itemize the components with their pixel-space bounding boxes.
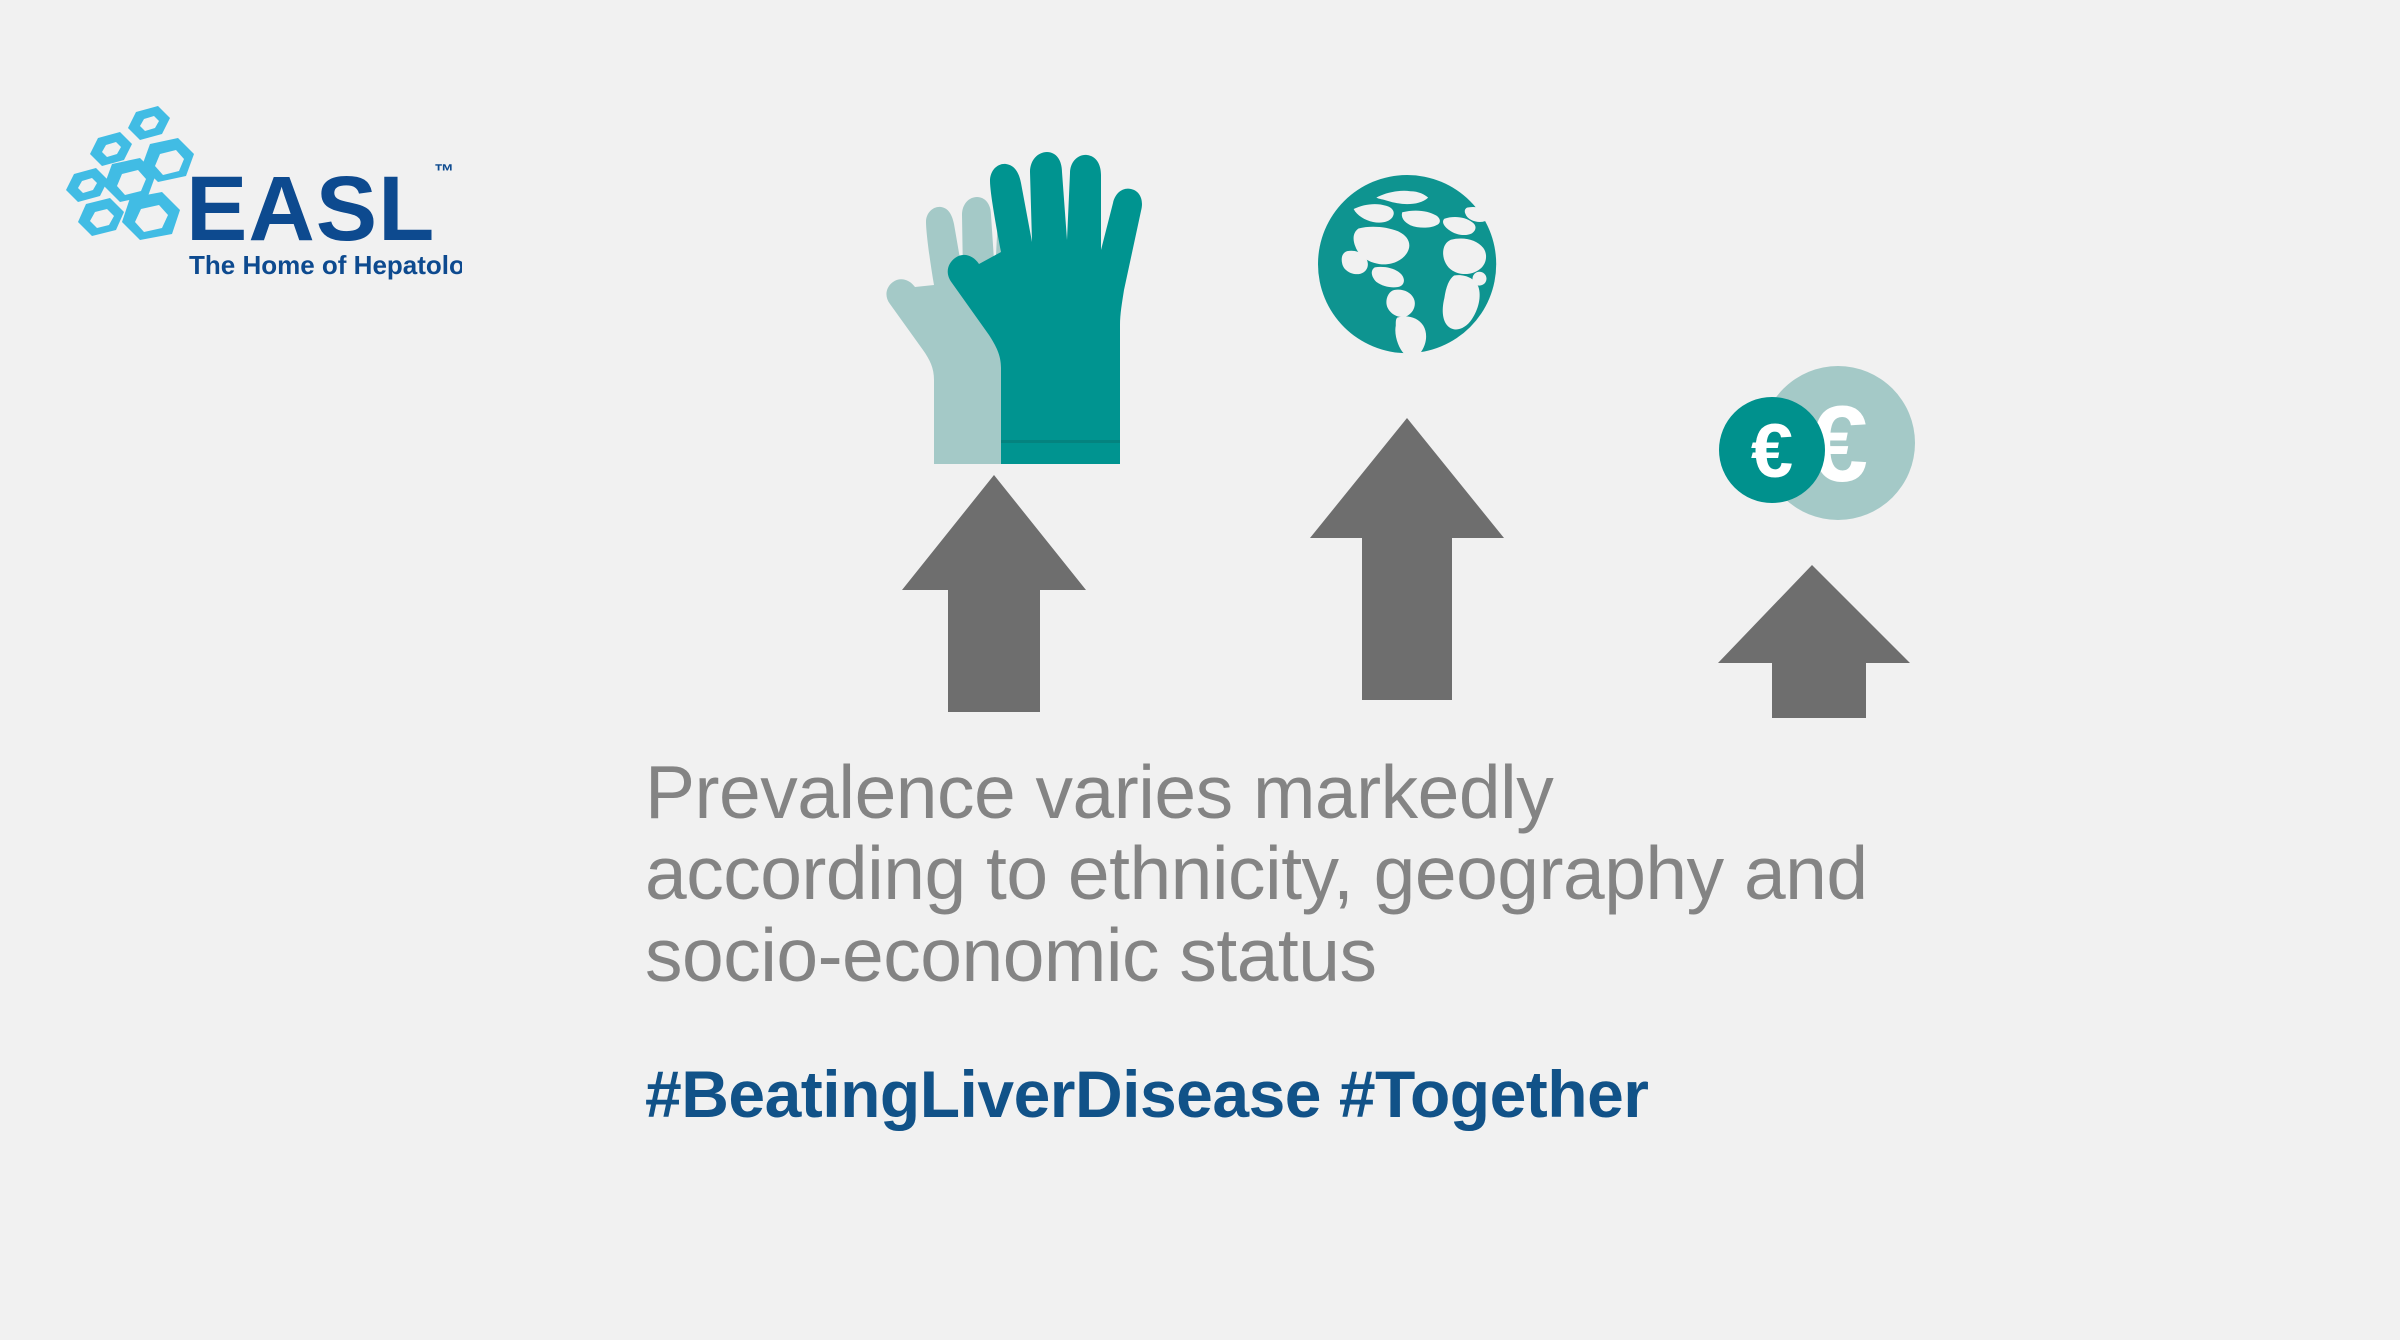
hand-front (948, 152, 1142, 464)
svg-text:EASL: EASL (186, 158, 435, 260)
coin-back (1761, 366, 1915, 520)
arrow-up-icon-3 (1718, 565, 1910, 718)
easl-logo-svg: EASL ™ The Home of Hepatology (62, 92, 462, 292)
text-block: Prevalence varies markedly according to … (645, 752, 2245, 1132)
raised-hands-icon (886, 152, 1142, 464)
globe-icon (1318, 175, 1496, 357)
arrow-up-icon-1 (902, 475, 1086, 712)
euro-symbol-back: € (1808, 383, 1868, 504)
hashtags-text: #BeatingLiverDisease #Together (645, 1056, 2245, 1132)
easl-logo: EASL ™ The Home of Hepatology (62, 92, 462, 292)
euro-symbol-front: € (1751, 409, 1793, 494)
hex-cluster-icon (66, 106, 194, 240)
coin-front (1719, 397, 1825, 503)
trademark-symbol: ™ (434, 161, 454, 183)
easl-tagline: The Home of Hepatology (189, 250, 462, 280)
euro-coins-icon: € € (1719, 366, 1915, 520)
easl-wordmark: EASL ™ The Home of Hepatology (186, 158, 462, 280)
arrow-up-icon-2 (1310, 418, 1504, 700)
hand-back (886, 197, 1061, 464)
headline-text: Prevalence varies markedly according to … (645, 752, 2245, 996)
